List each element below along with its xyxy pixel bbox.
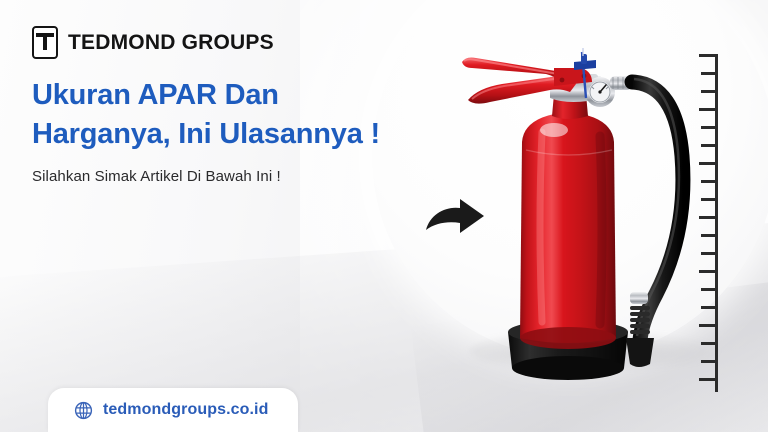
extinguisher-cylinder [520, 112, 616, 349]
brand-logo: TEDMOND GROUPS [32, 26, 274, 59]
article-banner: TEDMOND GROUPS Ukuran APAR Dan Harganya,… [0, 0, 768, 432]
fire-extinguisher-image [450, 46, 710, 386]
headline-line-2: Harganya, Ini Ulasannya ! [32, 115, 502, 154]
globe-icon [74, 401, 93, 420]
brand-name: TEDMOND GROUPS [68, 31, 274, 55]
headline-line-1: Ukuran APAR Dan [32, 76, 502, 115]
website-url-text: tedmondgroups.co.id [103, 401, 268, 419]
website-url-pill[interactable]: tedmondgroups.co.id [48, 388, 298, 432]
tedmond-square-t-mark-icon [32, 26, 58, 59]
page-title: Ukuran APAR Dan Harganya, Ini Ulasannya … [32, 76, 502, 153]
subtitle: Silahkan Simak Artikel Di Bawah Ini ! [32, 168, 281, 185]
extinguisher-hose [626, 79, 683, 367]
